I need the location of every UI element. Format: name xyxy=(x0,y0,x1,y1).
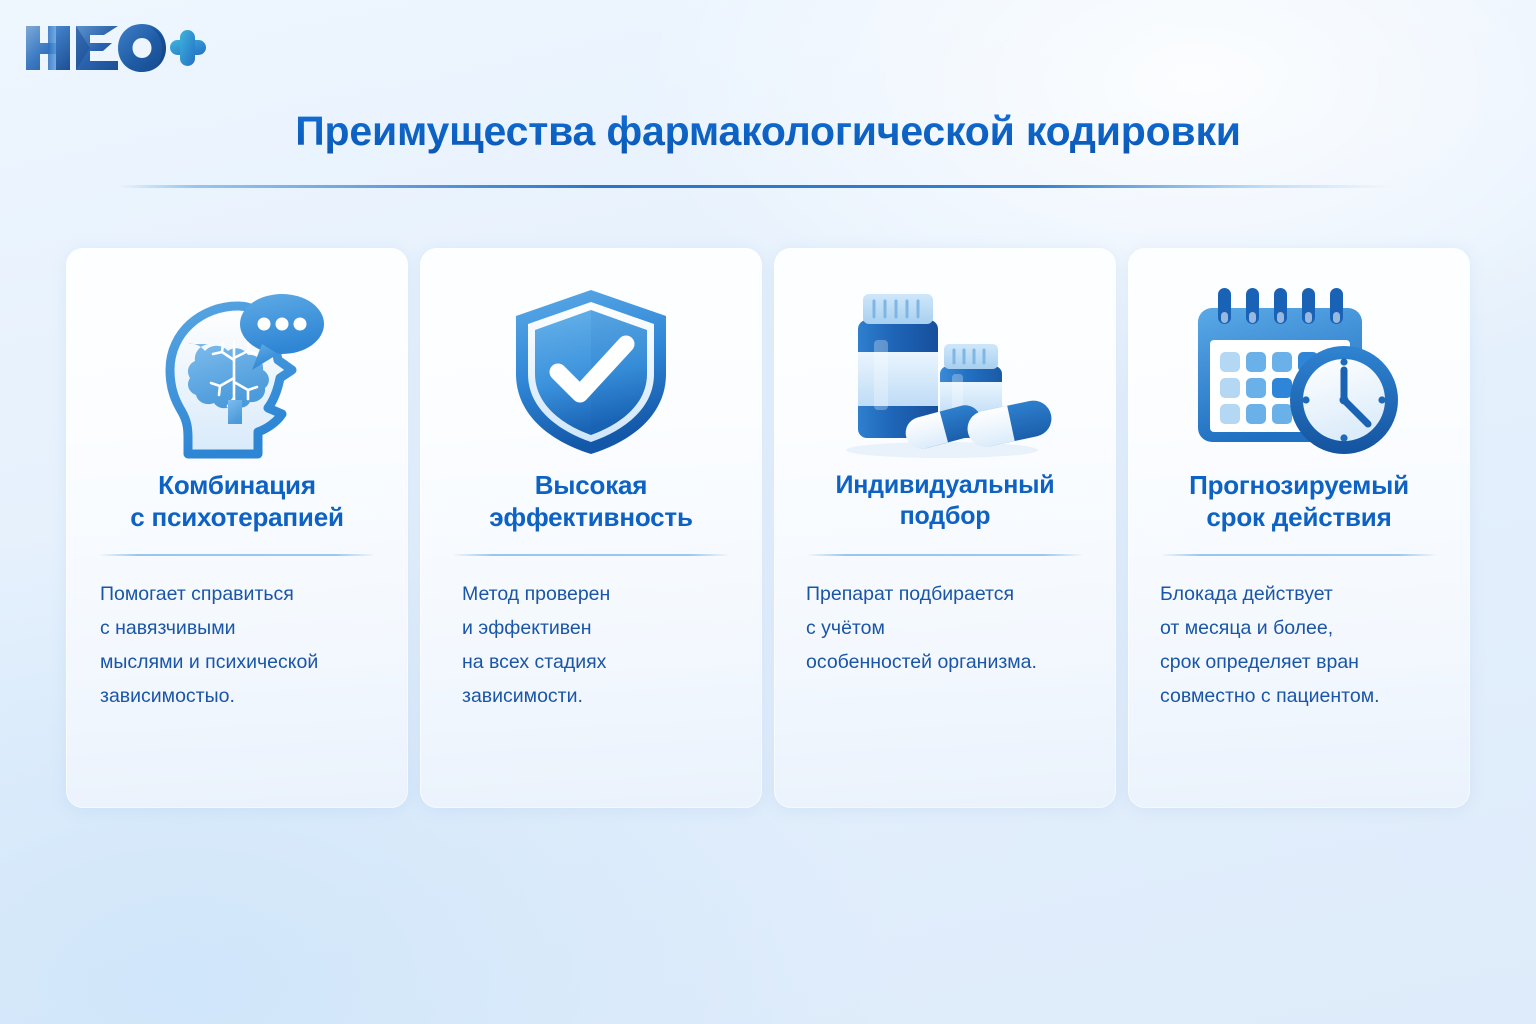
card-title-line2: эффективность xyxy=(489,502,693,534)
card-title-line1: Индивидуальный xyxy=(836,470,1055,501)
card-title-line2: подбор xyxy=(836,501,1055,532)
card-body-line: зависимостыо. xyxy=(100,680,382,714)
card-body-line: и эффективен xyxy=(462,612,736,646)
benefit-card-individual-selection[interactable]: Индивидуальный подбор Препарат подбирает… xyxy=(774,248,1116,808)
card-body: Блокада действует от месяца и более, сро… xyxy=(1144,578,1454,714)
card-title-line1: Комбинация xyxy=(130,470,344,502)
neo-plus-logo xyxy=(18,18,208,80)
card-title-line1: Высокая xyxy=(489,470,693,502)
card-body-line: с навязчивыми xyxy=(100,612,382,646)
card-title-line1: Прогнозируемый xyxy=(1189,470,1409,502)
card-title: Комбинация с психотерапией xyxy=(130,470,344,542)
card-body-line: совместно с пациентом. xyxy=(1160,680,1444,714)
card-body-line: зависимости. xyxy=(462,680,736,714)
card-body-line: Препарат подбирается xyxy=(806,578,1090,612)
card-body: Препарат подбирается с учётом особенност… xyxy=(790,578,1100,680)
brain-head-speech-bubble-icon xyxy=(82,274,392,470)
card-body: Помогает справиться с навязчивыми мыслям… xyxy=(82,578,392,714)
card-body-line: срок определяет вран xyxy=(1160,646,1444,680)
card-title-line2: срок действия xyxy=(1189,502,1409,534)
pill-bottles-capsules-icon xyxy=(790,274,1100,470)
card-body: Метод проверен и эффективен на всех стад… xyxy=(436,578,746,714)
benefit-card-predictable-duration[interactable]: Прогнозируемый срок действия Блокада дей… xyxy=(1128,248,1470,808)
calendar-clock-icon xyxy=(1144,274,1454,470)
card-divider xyxy=(100,554,374,556)
card-title: Индивидуальный подбор xyxy=(836,470,1055,542)
card-title: Высокая эффективность xyxy=(489,470,693,542)
card-divider xyxy=(808,554,1082,556)
card-divider xyxy=(454,554,728,556)
shield-check-icon xyxy=(436,274,746,470)
infographic-root: Преимущества фармакологической кодировки xyxy=(0,0,1536,1024)
benefits-card-grid: Комбинация с психотерапией Помогает спра… xyxy=(66,248,1470,808)
benefit-card-high-effectiveness[interactable]: Высокая эффективность Метод проверен и э… xyxy=(420,248,762,808)
card-body-line: особенностей организма. xyxy=(806,646,1090,680)
card-body-line: Помогает справиться xyxy=(100,578,382,612)
card-body-line: на всех стадиях xyxy=(462,646,736,680)
card-body-line: мыслями и психической xyxy=(100,646,382,680)
card-body-line: Метод проверен xyxy=(462,578,736,612)
neo-plus-logo-icon xyxy=(18,18,208,80)
title-divider xyxy=(118,185,1393,188)
card-divider xyxy=(1162,554,1436,556)
card-title-line2: с психотерапией xyxy=(130,502,344,534)
card-body-line: с учётом xyxy=(806,612,1090,646)
card-body-line: Блокада действует xyxy=(1160,578,1444,612)
page-title: Преимущества фармакологической кодировки xyxy=(0,108,1536,155)
card-body-line: от месяца и более, xyxy=(1160,612,1444,646)
benefit-card-combination-psychotherapy[interactable]: Комбинация с психотерапией Помогает спра… xyxy=(66,248,408,808)
card-title: Прогнозируемый срок действия xyxy=(1189,470,1409,542)
